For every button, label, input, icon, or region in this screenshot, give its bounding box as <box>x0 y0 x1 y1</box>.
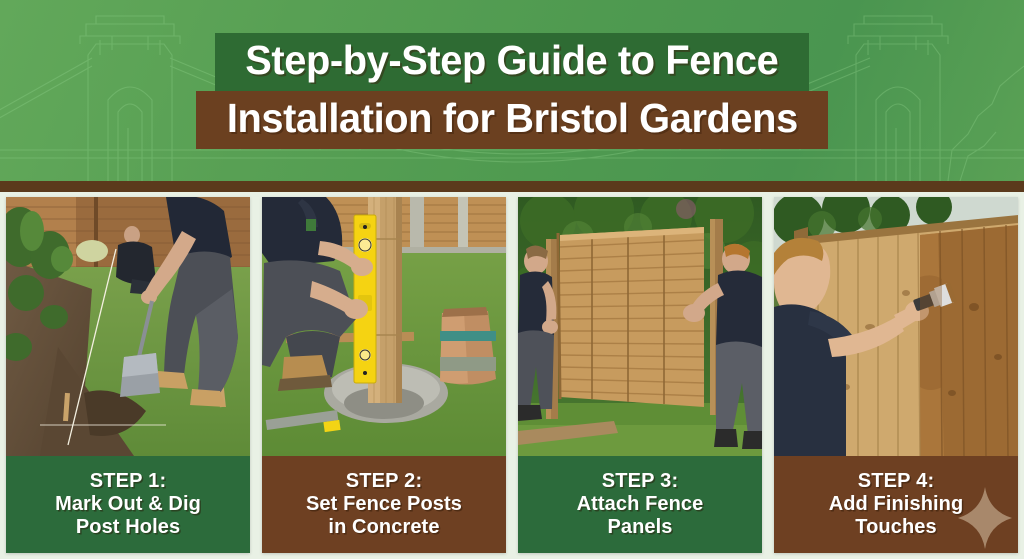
step-4-photo <box>774 197 1018 456</box>
step-panel-3: STEP 3: Attach Fence Panels <box>518 197 762 553</box>
step-panel-1: Joe's Fencing Bristol STEP 1: Mark Out &… <box>6 197 250 553</box>
page-title-line-1: Step-by-Step Guide to Fence <box>245 36 778 85</box>
step-2-caption: STEP 2: Set Fence Posts in Concrete <box>262 456 506 553</box>
header-divider <box>0 181 1024 192</box>
step-3-photo <box>518 197 762 456</box>
infographic-root: Step-by-Step Guide to Fence Installation… <box>0 0 1024 559</box>
title-band-line-2: Installation for Bristol Gardens <box>196 91 829 149</box>
step-3-description: Attach Fence Panels <box>577 493 704 539</box>
step-2-photo <box>262 197 506 456</box>
steps-grid: Joe's Fencing Bristol STEP 1: Mark Out &… <box>6 197 1018 553</box>
step-1-caption: STEP 1: Mark Out & Dig Post Holes <box>6 456 250 553</box>
step-panel-2: STEP 2: Set Fence Posts in Concrete <box>262 197 506 553</box>
step-2-description: Set Fence Posts in Concrete <box>306 493 462 539</box>
step-4-caption: STEP 4: Add Finishing Touches <box>774 456 1018 553</box>
step-panel-4: STEP 4: Add Finishing Touches <box>774 197 1018 553</box>
step-1-description: Mark Out & Dig Post Holes <box>55 493 201 539</box>
step-4-description: Add Finishing Touches <box>829 493 964 539</box>
page-title-line-2: Installation for Bristol Gardens <box>227 94 798 143</box>
header-banner: Step-by-Step Guide to Fence Installation… <box>0 0 1024 181</box>
step-3-label: STEP 3: <box>602 470 679 493</box>
title-band-line-1: Step-by-Step Guide to Fence <box>215 33 809 91</box>
step-3-caption: STEP 3: Attach Fence Panels <box>518 456 762 553</box>
step-2-label: STEP 2: <box>346 470 423 493</box>
sparkle-icon <box>958 487 1012 549</box>
step-1-label: STEP 1: <box>90 470 167 493</box>
step-4-label: STEP 4: <box>858 470 935 493</box>
header-title-group: Step-by-Step Guide to Fence Installation… <box>0 0 1024 181</box>
step-1-photo: Joe's Fencing Bristol <box>6 197 250 456</box>
